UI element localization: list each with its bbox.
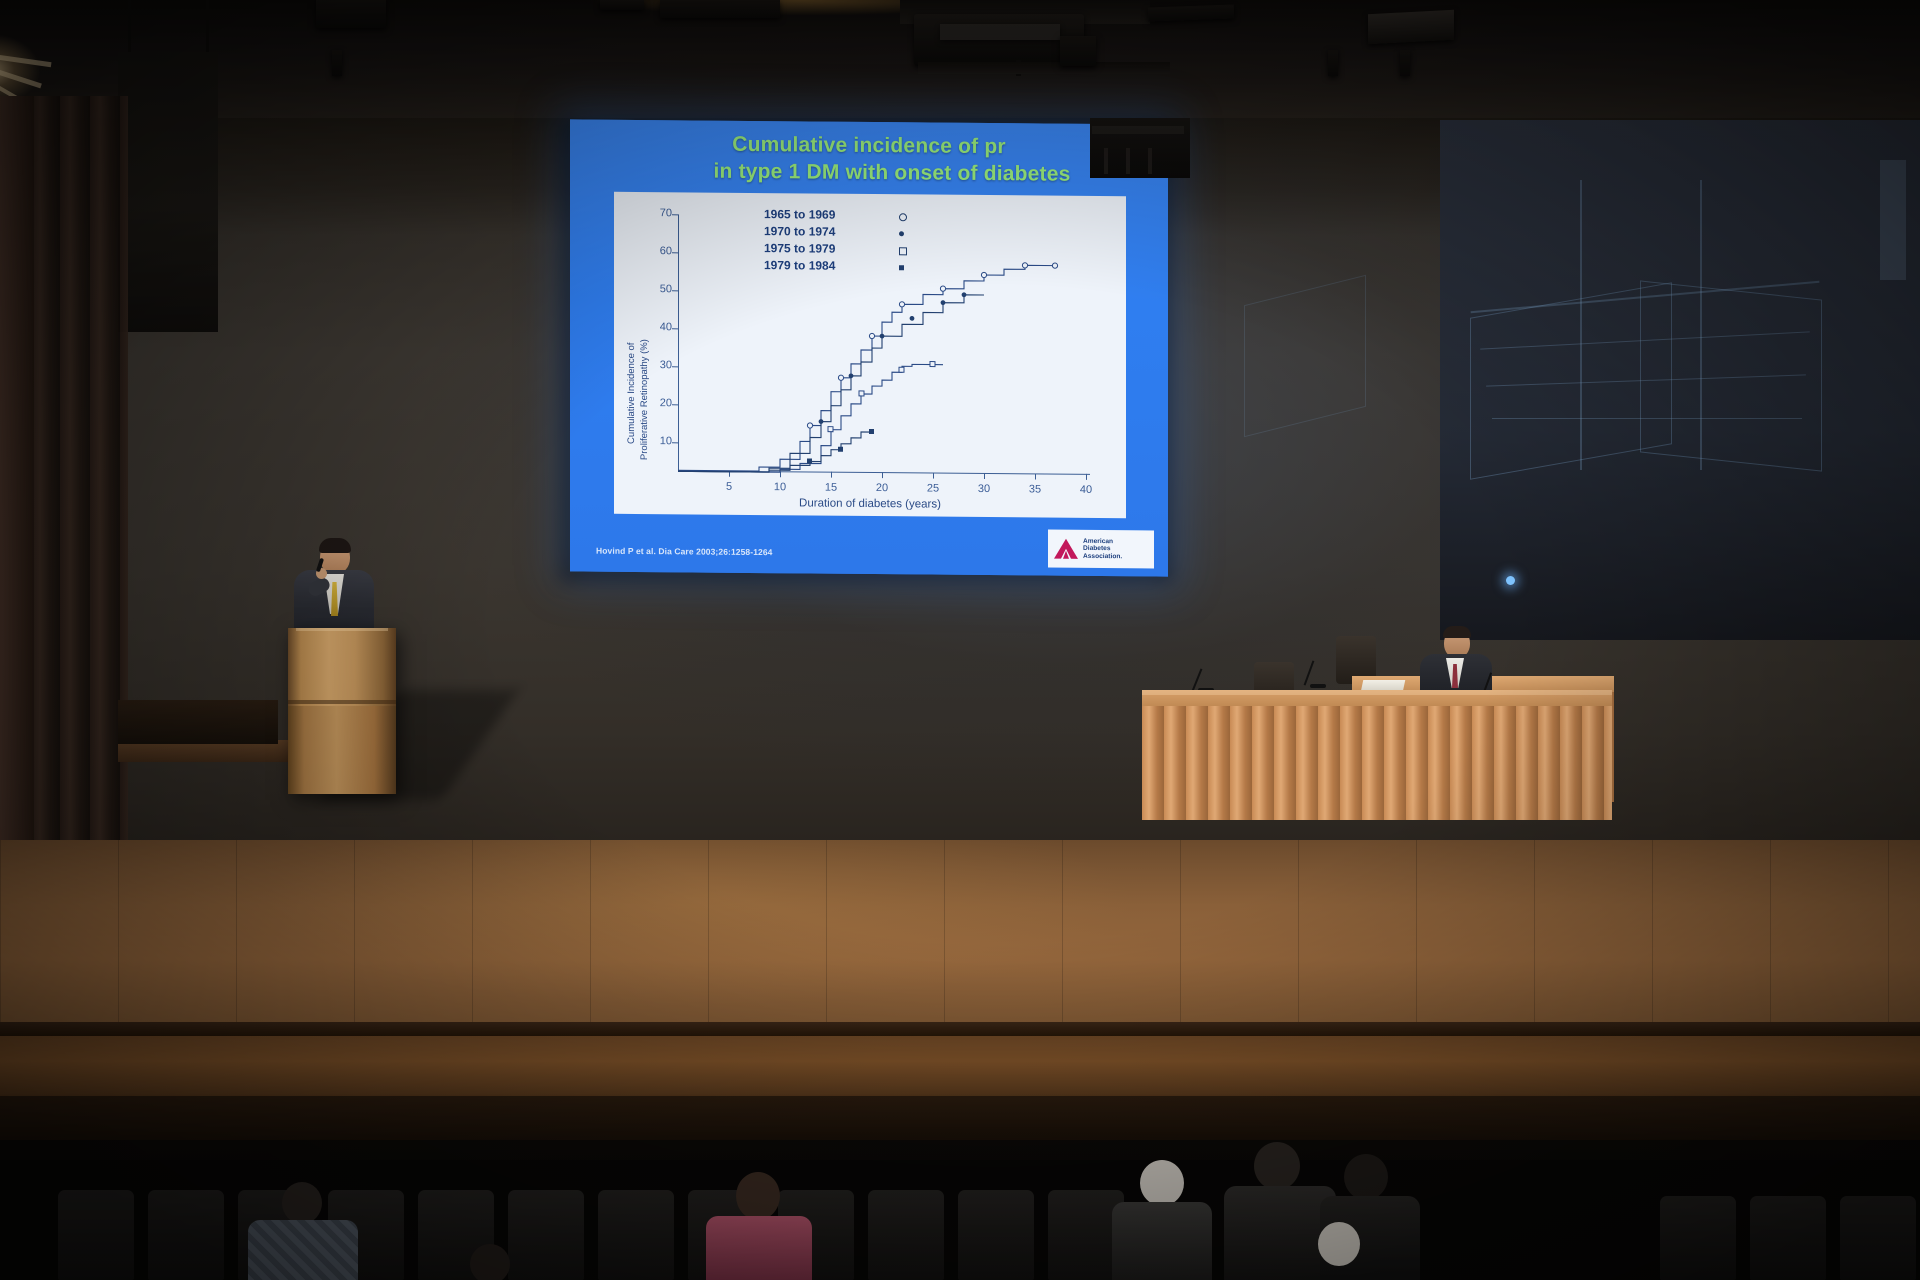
slide-title-line2: in type 1 DM with onset of diabetes (570, 156, 1168, 188)
status-indicator-light (1506, 576, 1515, 585)
audience-seat (868, 1190, 944, 1280)
audience-seat (1840, 1196, 1916, 1280)
panelist (1408, 628, 1492, 698)
audience-head (470, 1244, 510, 1280)
ada-line-2: Diabetes (1083, 545, 1122, 553)
audience-seat (148, 1190, 224, 1280)
presentation-slide: Cumulative incidence of pr in type 1 DM … (570, 119, 1168, 576)
ada-triangle-icon (1053, 538, 1079, 560)
speaker-grille (940, 24, 1060, 40)
legend-label-1975-1979: 1975 to 1979 (764, 241, 835, 256)
truss-occluder-detail (1148, 148, 1152, 174)
structure-column (1580, 180, 1582, 470)
truss-occluder-detail (1104, 148, 1108, 174)
ada-logo-text: American Diabetes Association. (1083, 537, 1122, 560)
auditorium-scene: Cumulative incidence of pr in type 1 DM … (0, 0, 1920, 1280)
audience-seat (598, 1190, 674, 1280)
audience-body (1112, 1202, 1212, 1280)
podium-highlight (296, 628, 388, 631)
legend-label-1979-1984: 1979 to 1984 (764, 258, 835, 273)
stage-floor-edge (0, 1022, 1920, 1036)
audience-seat (1750, 1196, 1826, 1280)
open-square-marker-icon (899, 247, 907, 255)
panelist-hair (1443, 626, 1471, 638)
ceiling-speaker-box (600, 0, 644, 10)
ceiling-speaker-box (316, 0, 386, 28)
wall-light-fixture (332, 50, 342, 76)
ceiling-speaker-box (1060, 36, 1096, 66)
audience-member (454, 1244, 540, 1280)
projection-screen: Cumulative incidence of pr in type 1 DM … (570, 119, 1168, 576)
open-circle-marker-icon (899, 213, 907, 221)
slide-title: Cumulative incidence of pr in type 1 DM … (570, 129, 1168, 188)
chart-plot-area: Cumulative Incidence of Proliferative Re… (614, 192, 1126, 518)
filled-square-marker-icon (899, 265, 904, 270)
slide-citation: Hovind P et al. Dia Care 2003;26:1258-12… (596, 546, 773, 558)
ceiling-speaker-box (1148, 5, 1234, 22)
legend-label-1970-1974: 1970 to 1974 (764, 224, 835, 239)
ceiling-speaker-box (660, 0, 780, 18)
audience-head (1344, 1154, 1388, 1200)
audience-seat (958, 1190, 1034, 1280)
table-highlight (1142, 690, 1612, 695)
audience-head (1318, 1222, 1360, 1266)
legend-label-1965-1969: 1965 to 1969 (764, 207, 835, 222)
ada-line-3: Association. (1083, 553, 1122, 561)
speaker-rod (128, 0, 131, 52)
audience-head (736, 1172, 780, 1220)
truss-occluder-detail (1126, 148, 1130, 174)
ceiling-speaker-box (1368, 10, 1454, 45)
wall-light-fixture (1400, 50, 1410, 76)
audience-member (706, 1172, 812, 1280)
wall-light-fixture (1328, 50, 1338, 76)
podium-trim (288, 700, 396, 704)
truss-occluder-detail (1092, 126, 1184, 134)
audience-body (248, 1220, 358, 1280)
ceiling-speaker-array (914, 14, 1084, 66)
table-microphone-base (1310, 684, 1326, 688)
audience-member (248, 1182, 358, 1280)
chart-inner: Cumulative Incidence of Proliferative Re… (614, 192, 1126, 518)
speaker-rod (206, 0, 209, 52)
filled-circle-marker-icon (899, 231, 904, 236)
podium-lower-panel (288, 706, 396, 794)
panel-table-skirt (1142, 706, 1612, 820)
audience-seat (58, 1190, 134, 1280)
audience-seat (1660, 1196, 1736, 1280)
structure-panel (1880, 160, 1906, 280)
audience-body (706, 1216, 812, 1280)
series-1975-1979-line (678, 362, 943, 473)
chart-curves (614, 192, 1126, 518)
audience-member (1296, 1222, 1390, 1280)
audience-head (1254, 1142, 1300, 1190)
structure-column (1700, 180, 1702, 470)
audience-member (1112, 1160, 1212, 1280)
structure-beam (1492, 418, 1802, 419)
loudspeaker-stack-left (118, 52, 218, 332)
series-1965-1969-line (678, 262, 1055, 473)
series-1970-1974-line (678, 292, 984, 474)
ada-logo: American Diabetes Association. (1048, 530, 1154, 569)
presenter-hair (319, 538, 351, 553)
flown-truss-lower (918, 62, 1170, 74)
audience-head (282, 1182, 322, 1224)
stage-step-riser (118, 700, 278, 744)
audience-head (1140, 1160, 1184, 1206)
